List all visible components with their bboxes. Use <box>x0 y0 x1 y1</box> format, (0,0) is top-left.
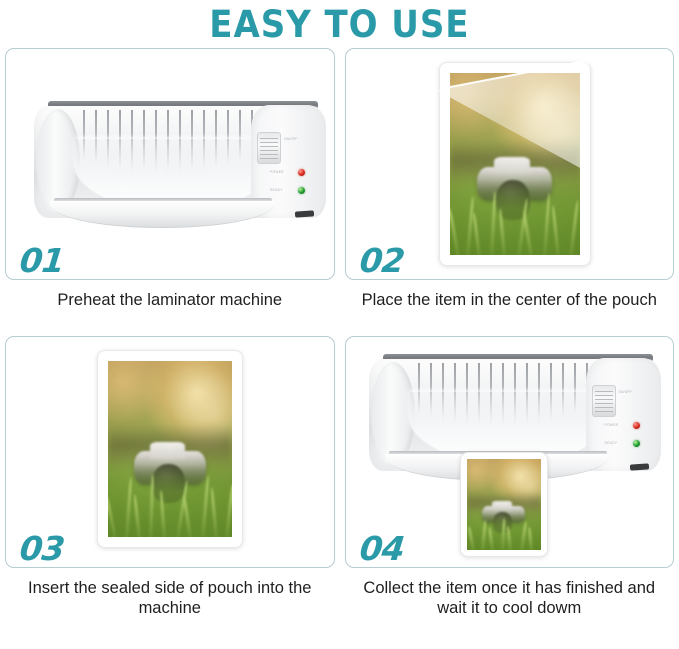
step-illustration-card-03: 03 <box>5 336 335 568</box>
step-number-04: 04 <box>358 532 405 565</box>
step-number-01: 01 <box>18 244 65 277</box>
step-caption-04: Collect the item once it has finished an… <box>345 568 675 624</box>
page-title: EASY TO USE <box>209 6 469 43</box>
steps-grid: ON/OFF POWER READY 01 Preheat the lamina… <box>0 48 679 624</box>
step-card-03: 03 Insert the sealed side of pouch into … <box>0 336 340 624</box>
laminated-output-photo <box>460 452 548 557</box>
step-illustration-card-02: 02 <box>345 48 675 280</box>
laminator-machine-illustration: ON/OFF POWER READY <box>34 101 326 231</box>
step-card-01: ON/OFF POWER READY 01 Preheat the lamina… <box>0 48 340 336</box>
step-illustration-card-01: ON/OFF POWER READY 01 <box>5 48 335 280</box>
step-caption-03: Insert the sealed side of pouch into the… <box>5 568 335 624</box>
machine-output-tray <box>50 201 274 228</box>
page-header: EASY TO USE <box>0 0 679 48</box>
step-card-04: ON/OFF POWER READY <box>340 336 679 624</box>
power-led-indicator <box>298 169 305 176</box>
ready-led-label: READY <box>270 188 283 192</box>
power-led-label: POWER <box>270 170 284 174</box>
power-switch-label: ON/OFF <box>284 137 297 141</box>
machine-foot <box>629 463 648 470</box>
step-illustration-card-04: ON/OFF POWER READY <box>345 336 675 568</box>
power-led-indicator <box>633 422 640 429</box>
power-switch-label: ON/OFF <box>619 390 632 394</box>
step-number-02: 02 <box>358 244 405 277</box>
ready-led-indicator <box>298 187 305 194</box>
step-caption-01: Preheat the laminator machine <box>5 280 335 336</box>
laminating-pouch-sealed <box>97 350 243 548</box>
power-switch[interactable] <box>592 385 616 417</box>
step-caption-02: Place the item in the center of the pouc… <box>345 280 675 336</box>
ready-led-label: READY <box>605 441 618 445</box>
step-number-03: 03 <box>18 532 65 565</box>
photo-soft-focus <box>467 459 541 550</box>
camera-photo-02 <box>450 73 580 255</box>
power-switch[interactable] <box>257 132 281 164</box>
power-led-label: POWER <box>605 423 619 427</box>
photo-soft-focus <box>108 361 232 537</box>
step-card-02: 02 Place the item in the center of the p… <box>340 48 679 336</box>
ready-led-indicator <box>633 440 640 447</box>
laminating-pouch-open <box>439 62 591 266</box>
camera-photo-04 <box>467 459 541 550</box>
photo-soft-focus <box>450 73 580 255</box>
camera-photo-03 <box>108 361 232 537</box>
